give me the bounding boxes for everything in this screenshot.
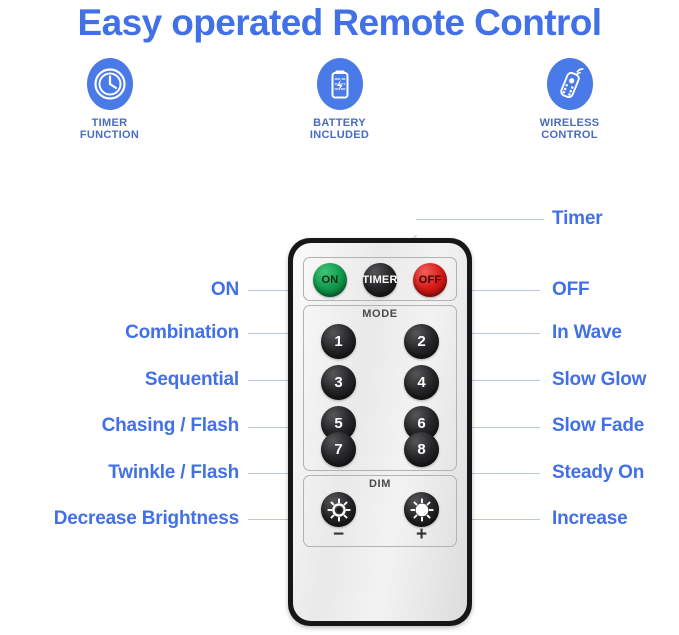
feature-label: TIMER FUNCTION <box>80 117 139 141</box>
feature-battery-included: BATTERY INCLUDED <box>280 58 400 141</box>
mode-panel: MODE 1 2 3 4 5 6 7 8 <box>303 305 457 471</box>
clock-icon <box>93 67 127 101</box>
callout-timer: Timer <box>552 208 602 230</box>
callout-steady-on: Steady On <box>552 462 644 484</box>
feature-badges: TIMER FUNCTION BATTERY INCLUDED <box>0 58 679 141</box>
dim-increase-button[interactable] <box>404 492 439 527</box>
dim-label: DIM <box>304 478 456 490</box>
timer-badge <box>87 58 133 110</box>
callout-on: ON <box>211 279 239 301</box>
battery-icon <box>323 67 357 101</box>
callout-slow-glow: Slow Glow <box>552 369 646 391</box>
callout-sequential: Sequential <box>145 369 239 391</box>
callout-slow-fade: Slow Fade <box>552 415 644 437</box>
remote-faceplate: ON TIMER OFF MODE 1 2 3 4 5 6 7 8 DIM <box>293 243 467 621</box>
remote-control-device: ON TIMER OFF MODE 1 2 3 4 5 6 7 8 DIM <box>288 238 472 626</box>
dim-minus-sign: − <box>321 528 356 542</box>
dim-plus-sign: + <box>404 528 439 542</box>
mode-button-7[interactable]: 7 <box>321 432 356 467</box>
feature-timer-function: TIMER FUNCTION <box>50 58 170 141</box>
power-panel: ON TIMER OFF <box>303 257 457 301</box>
feature-wireless-control: WIRELESS CONTROL <box>510 58 630 141</box>
mode-button-4[interactable]: 4 <box>404 365 439 400</box>
on-button[interactable]: ON <box>313 263 347 297</box>
feature-label: WIRELESS CONTROL <box>540 117 600 141</box>
feature-label: BATTERY INCLUDED <box>310 117 369 141</box>
dim-decrease-button[interactable] <box>321 492 356 527</box>
leader-line-timer <box>416 219 544 220</box>
wireless-badge <box>547 58 593 110</box>
dim-panel: DIM <box>303 475 457 547</box>
off-button[interactable]: OFF <box>413 263 447 297</box>
timer-button[interactable]: TIMER <box>363 263 397 297</box>
remote-signal-icon <box>553 67 587 101</box>
sun-decrease-icon <box>326 497 352 523</box>
callout-increase: Increase <box>552 508 628 530</box>
page-title: Easy operated Remote Control <box>0 2 679 44</box>
callout-in-wave: In Wave <box>552 322 622 344</box>
callout-combination: Combination <box>125 322 239 344</box>
mode-button-2[interactable]: 2 <box>404 324 439 359</box>
mode-button-1[interactable]: 1 <box>321 324 356 359</box>
callout-decrease-brightness: Decrease Brightness <box>54 508 239 530</box>
callout-chasing-flash: Chasing / Flash <box>102 415 239 437</box>
callout-off: OFF <box>552 279 589 301</box>
mode-button-8[interactable]: 8 <box>404 432 439 467</box>
sun-increase-icon <box>409 497 435 523</box>
mode-button-3[interactable]: 3 <box>321 365 356 400</box>
battery-badge <box>317 58 363 110</box>
callout-twinkle-flash: Twinkle / Flash <box>108 462 239 484</box>
mode-label: MODE <box>304 308 456 320</box>
